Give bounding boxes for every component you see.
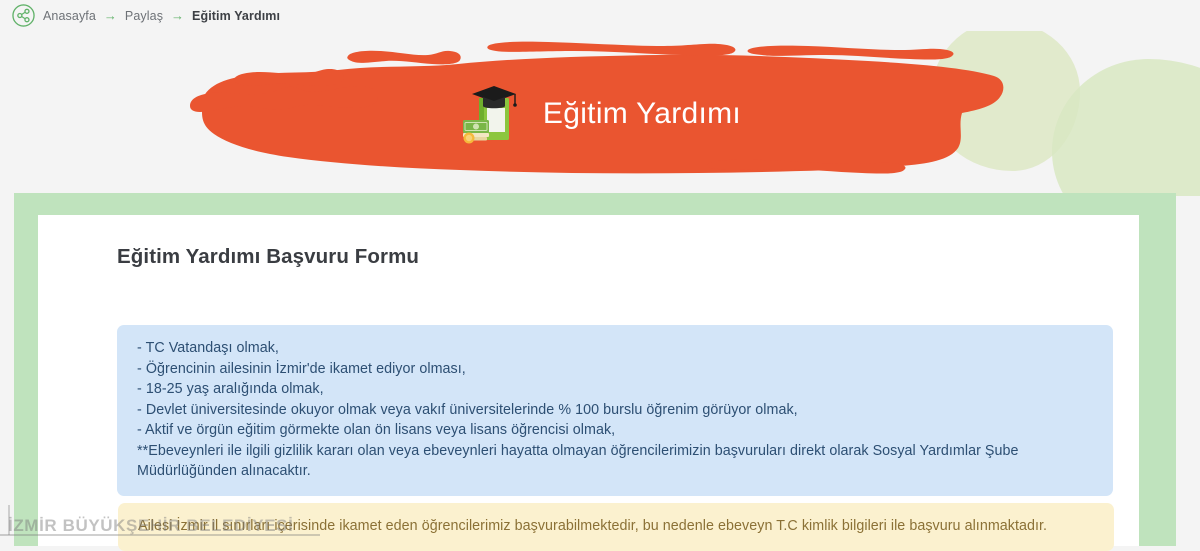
education-graduation-icon [459,82,521,146]
breadcrumb-item-paylas[interactable]: Paylaş [125,9,163,23]
hero-title: Eğitim Yardımı [543,97,741,131]
form-card: Eğitim Yardımı Başvuru Formu - TC Vatand… [38,215,1139,546]
breadcrumb-item-anasayfa[interactable]: Anasayfa [43,9,96,23]
eligibility-line: - 18-25 yaş aralığında olmak, [137,379,1093,400]
hero-banner: Eğitim Yardımı [0,31,1200,196]
chevron-right-icon: → [171,9,184,22]
form-frame: Eğitim Yardımı Başvuru Formu - TC Vatand… [14,193,1176,546]
eligibility-line: - TC Vatandaşı olmak, [137,338,1093,359]
eligibility-line: - Devlet üniversitesinde okuyor olmak ve… [137,400,1093,421]
eligibility-line: - Öğrencinin ailesinin İzmir'de ikamet e… [137,359,1093,380]
breadcrumb: Anasayfa → Paylaş → Eğitim Yardımı [0,0,1200,31]
eligibility-note: **Ebeveynleri ile ilgili gizlilik kararı… [137,441,1093,482]
breadcrumb-item-current: Eğitim Yardımı [192,9,280,23]
share-icon[interactable] [12,4,35,27]
eligibility-line: - Aktif ve örgün eğitim görmekte olan ön… [137,420,1093,441]
residency-warning-box: Ailesi İzmir il sınırları içerisinde ika… [118,503,1114,551]
watermark-tick [8,505,10,535]
chevron-right-icon: → [104,9,117,22]
eligibility-info-box: - TC Vatandaşı olmak, - Öğrencinin ailes… [117,325,1113,496]
watermark-underline [0,534,320,536]
page-title: Eğitim Yardımı Başvuru Formu [117,245,419,269]
